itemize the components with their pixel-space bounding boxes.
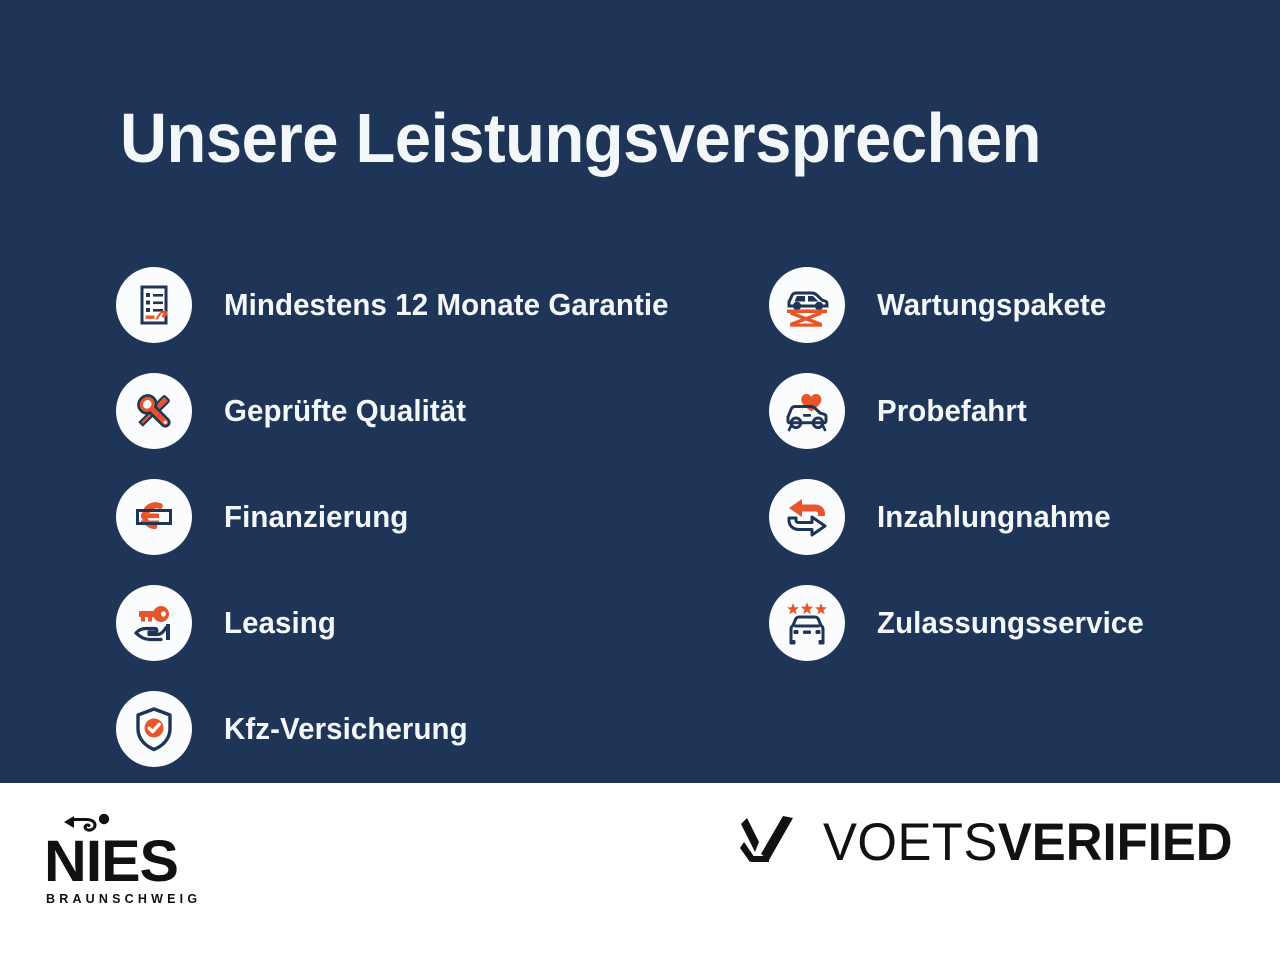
- voets-checkmark-icon: [739, 812, 801, 873]
- shield-check-icon: [116, 691, 192, 767]
- voets-verified-logo: VOETSVERIFIED: [739, 807, 1250, 877]
- feature-item-versicherung: Kfz-Versicherung: [116, 676, 756, 782]
- feature-label: Leasing: [224, 605, 336, 641]
- features-grid: Mindestens 12 Monate Garantie: [0, 252, 1280, 782]
- feature-label: Probefahrt: [877, 393, 1027, 429]
- nies-subtitle: BRAUNSCHWEIG: [46, 892, 201, 906]
- voets-word-light: VOETS: [823, 813, 998, 872]
- feature-item-probefahrt: Probefahrt: [769, 358, 1269, 464]
- features-left-column: Mindestens 12 Monate Garantie: [116, 252, 756, 782]
- features-right-column: Wartungspakete Pro: [769, 252, 1269, 782]
- exchange-arrows-icon: [769, 479, 845, 555]
- feature-label: Geprüfte Qualität: [224, 393, 466, 429]
- nies-wordmark: NIES: [44, 833, 178, 891]
- document-wrench-icon: [116, 267, 192, 343]
- feature-label: Inzahlungnahme: [877, 499, 1111, 535]
- voets-word-bold: VERIFIED: [998, 813, 1233, 872]
- footer-section: NIES BRAUNSCHWEIG VOETSVERIFIED: [0, 783, 1280, 960]
- car-on-lift-icon: [769, 267, 845, 343]
- feature-item-garantie: Mindestens 12 Monate Garantie: [116, 252, 756, 358]
- feature-item-zulassungsservice: Zulassungsservice: [769, 570, 1269, 676]
- service-promise-poster: Unsere Leistungsversprechen: [0, 0, 1280, 960]
- feature-label: Wartungspakete: [877, 287, 1106, 323]
- car-heart-icon: [769, 373, 845, 449]
- feature-label: Zulassungsservice: [877, 605, 1144, 641]
- wrench-screwdriver-icon: [116, 373, 192, 449]
- feature-item-leasing: Leasing: [116, 570, 756, 676]
- feature-item-wartungspakete: Wartungspakete: [769, 252, 1269, 358]
- feature-label: Kfz-Versicherung: [224, 711, 468, 747]
- feature-item-inzahlungnahme: Inzahlungnahme: [769, 464, 1269, 570]
- car-three-stars-icon: [769, 585, 845, 661]
- feature-item-qualitaet: Geprüfte Qualität: [116, 358, 756, 464]
- feature-label: Finanzierung: [224, 499, 408, 535]
- voets-wordmark: VOETSVERIFIED: [823, 816, 1233, 869]
- feature-item-finanzierung: Finanzierung: [116, 464, 756, 570]
- key-in-hand-icon: [116, 585, 192, 661]
- feature-label: Mindestens 12 Monate Garantie: [224, 287, 669, 323]
- euro-banknote-icon: [116, 479, 192, 555]
- page-title: Unsere Leistungsversprechen: [120, 103, 1041, 173]
- hero-section: Unsere Leistungsversprechen: [0, 0, 1280, 783]
